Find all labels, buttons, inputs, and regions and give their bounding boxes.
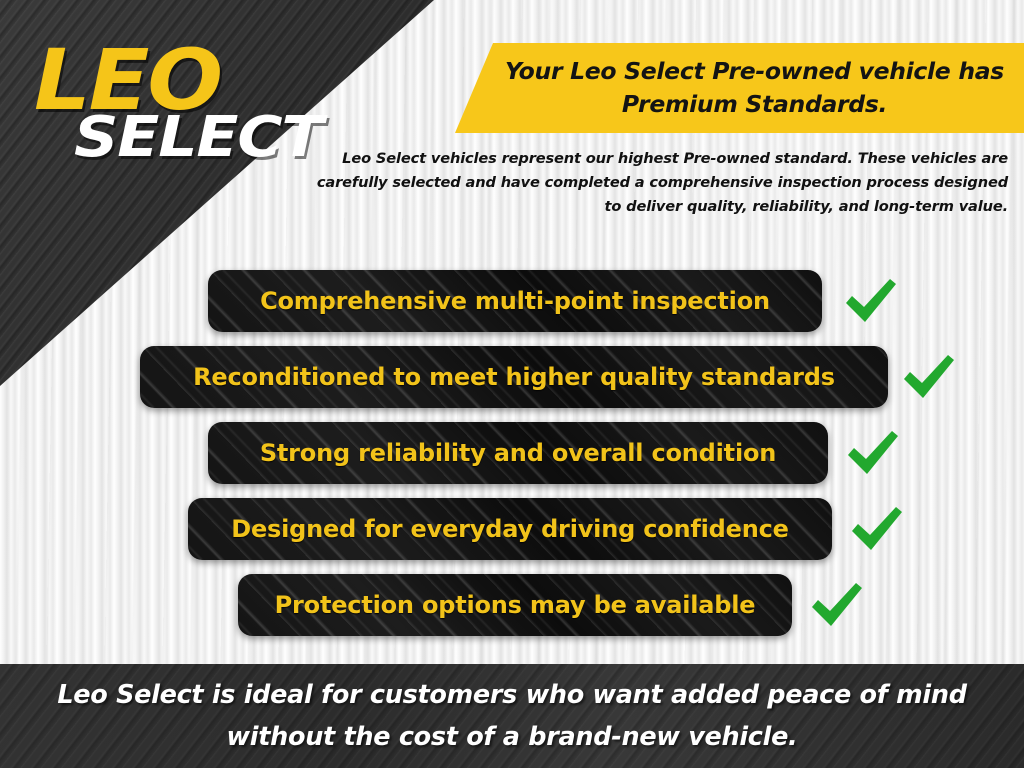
intro-paragraph: Leo Select vehicles represent our highes… <box>306 147 1008 219</box>
headline-title: Your Leo Select Pre-owned vehicle has Pr… <box>455 43 1024 133</box>
green-check-icon <box>844 427 900 479</box>
promo-slide: LEO SELECT Your Leo Select Pre-owned veh… <box>0 0 1024 768</box>
green-check-icon <box>848 503 904 555</box>
feature-row: Comprehensive multi-point inspection <box>208 270 822 332</box>
feature-row: Protection options may be available <box>238 574 792 636</box>
feature-label: Reconditioned to meet higher quality sta… <box>177 363 851 391</box>
feature-pill: Designed for everyday driving confidence <box>188 498 832 560</box>
feature-pill: Protection options may be available <box>238 574 792 636</box>
green-check-icon <box>842 275 898 327</box>
logo-word-select: SELECT <box>74 110 322 166</box>
feature-pill: Reconditioned to meet higher quality sta… <box>140 346 888 408</box>
feature-row: Strong reliability and overall condition <box>208 422 828 484</box>
feature-label: Designed for everyday driving confidence <box>215 515 804 543</box>
feature-list: Comprehensive multi-point inspection Rec… <box>0 266 1024 646</box>
green-check-icon <box>900 351 956 403</box>
footer-band: Leo Select is ideal for customers who wa… <box>0 664 1024 768</box>
brand-logo: LEO SELECT <box>34 38 334 168</box>
green-check-icon <box>808 579 864 631</box>
footer-message: Leo Select is ideal for customers who wa… <box>0 674 1024 758</box>
feature-label: Comprehensive multi-point inspection <box>244 287 786 315</box>
feature-label: Protection options may be available <box>259 591 772 619</box>
feature-row: Reconditioned to meet higher quality sta… <box>140 346 888 408</box>
feature-pill: Strong reliability and overall condition <box>208 422 828 484</box>
feature-row: Designed for everyday driving confidence <box>188 498 832 560</box>
feature-label: Strong reliability and overall condition <box>244 439 792 467</box>
feature-pill: Comprehensive multi-point inspection <box>208 270 822 332</box>
